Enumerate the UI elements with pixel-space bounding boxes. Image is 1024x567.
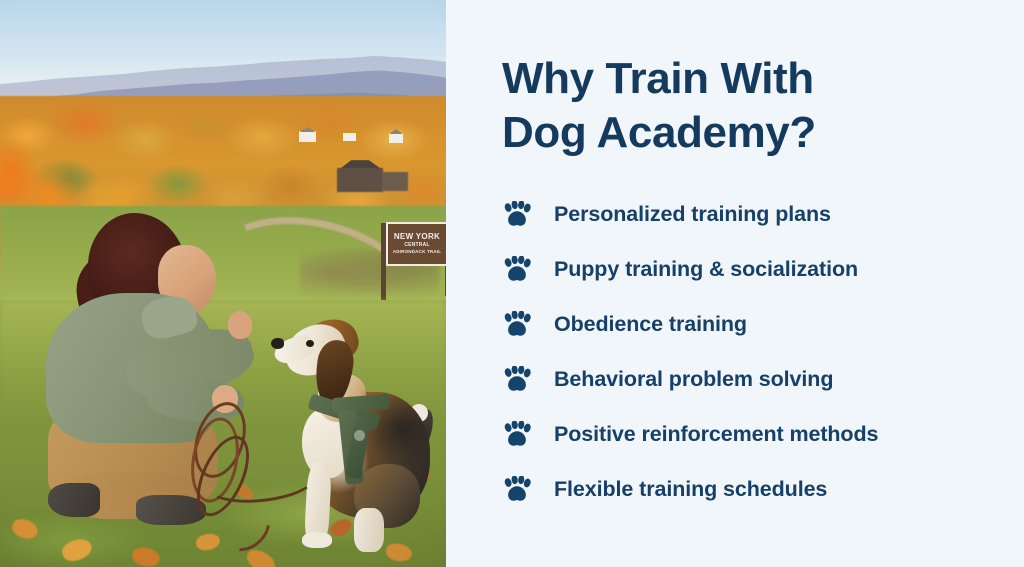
hiking-boot bbox=[136, 495, 206, 525]
page-title: Why Train With Dog Academy? bbox=[502, 52, 1024, 159]
paw-print-icon bbox=[502, 201, 532, 229]
list-item: Puppy training & socialization bbox=[502, 242, 1024, 297]
dog-nose bbox=[271, 338, 284, 349]
list-item: Behavioral problem solving bbox=[502, 352, 1024, 407]
hiking-boot bbox=[48, 483, 100, 517]
list-item: Flexible training schedules bbox=[502, 462, 1024, 517]
lakeside-house bbox=[343, 133, 356, 141]
trail-sign-line3: ADIRONDACK TRAIL bbox=[393, 249, 441, 255]
list-item: Personalized training plans bbox=[502, 187, 1024, 242]
promo-banner: NEW YORK CENTRAL ADIRONDACK TRAIL bbox=[0, 0, 1024, 567]
dog-hind-leg bbox=[354, 508, 384, 552]
feature-list: Personalized training plans Puppy traini… bbox=[502, 187, 1024, 517]
list-item-label: Positive reinforcement methods bbox=[554, 422, 878, 447]
raised-hand bbox=[228, 311, 252, 339]
trail-sign-line1: NEW YORK bbox=[394, 233, 440, 242]
farmhouse bbox=[337, 168, 383, 192]
hero-photo: NEW YORK CENTRAL ADIRONDACK TRAIL bbox=[0, 0, 446, 567]
barn bbox=[382, 172, 408, 191]
paw-print-icon bbox=[502, 366, 532, 394]
list-item: Positive reinforcement methods bbox=[502, 407, 1024, 462]
lakeside-house bbox=[389, 133, 403, 143]
beagle-dog bbox=[258, 312, 428, 567]
paw-print-icon bbox=[502, 421, 532, 449]
list-item-label: Personalized training plans bbox=[554, 202, 831, 227]
dog-trainer-person bbox=[30, 205, 265, 567]
list-item: Obedience training bbox=[502, 297, 1024, 352]
dog-paw bbox=[302, 532, 332, 548]
dog-eye bbox=[306, 340, 314, 347]
dog-harness-ring bbox=[354, 430, 365, 441]
list-item-label: Puppy training & socialization bbox=[554, 257, 858, 282]
list-item-label: Behavioral problem solving bbox=[554, 367, 833, 392]
paw-print-icon bbox=[502, 256, 532, 284]
info-panel: Why Train With Dog Academy? Personalized… bbox=[446, 0, 1024, 567]
trail-sign: NEW YORK CENTRAL ADIRONDACK TRAIL bbox=[386, 222, 446, 266]
list-item-label: Obedience training bbox=[554, 312, 747, 337]
lakeside-house bbox=[299, 131, 316, 142]
paw-print-icon bbox=[502, 311, 532, 339]
paw-print-icon bbox=[502, 476, 532, 504]
list-item-label: Flexible training schedules bbox=[554, 477, 827, 502]
